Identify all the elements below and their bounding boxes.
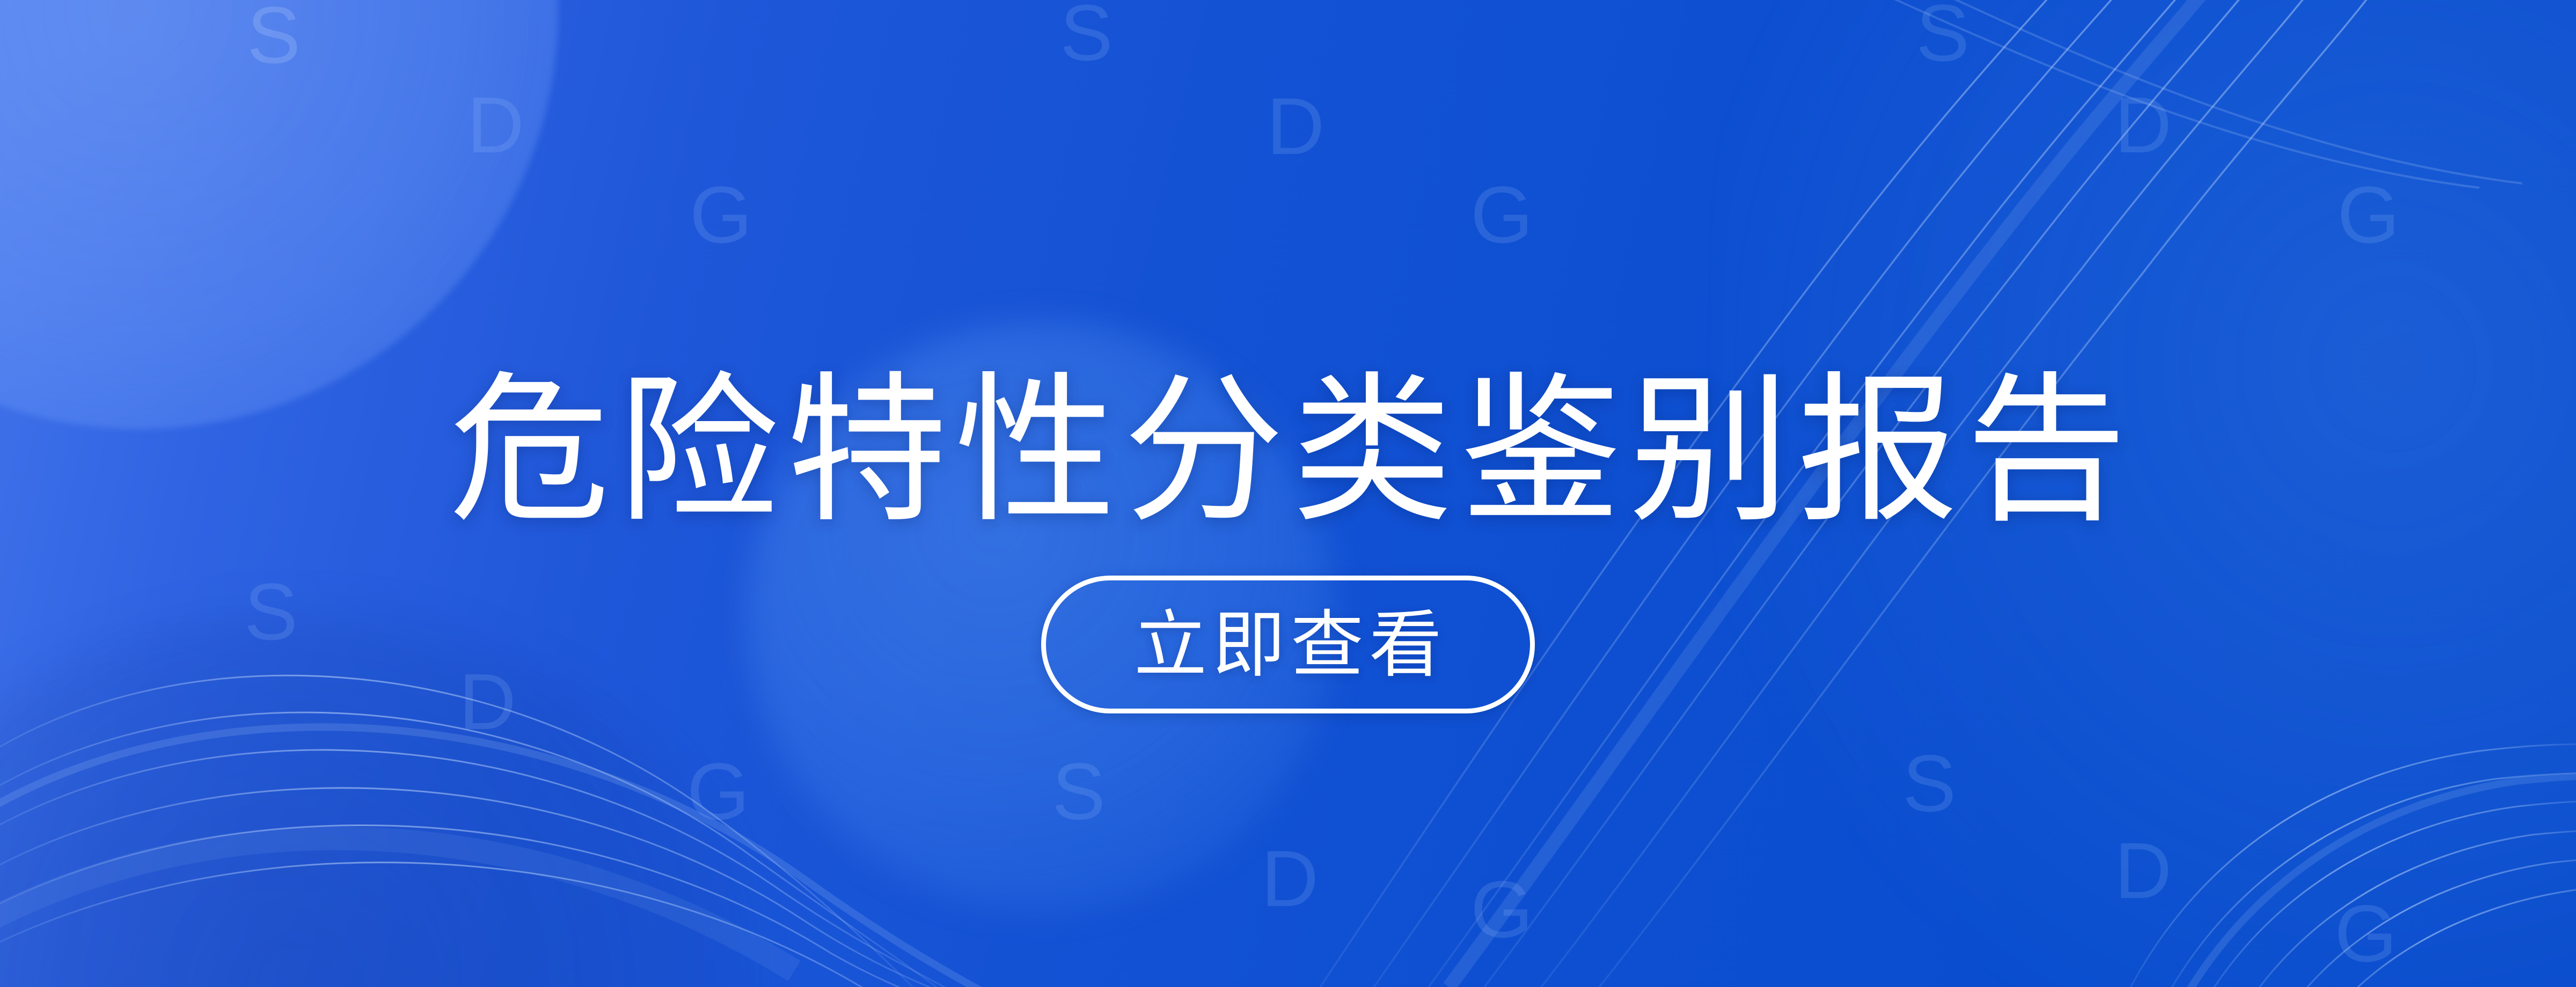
view-now-button-label: 立即查看: [1129, 608, 1447, 681]
view-now-button[interactable]: 立即查看: [1041, 576, 1535, 713]
banner-content: 危险特性分类鉴别报告: [0, 0, 2576, 987]
page-title: 危险特性分类鉴别报告: [442, 370, 2134, 531]
banner-root: SDGSDGSDGSDGSDGSDG 危险特性分类鉴别报告 立即查看: [0, 0, 2576, 987]
